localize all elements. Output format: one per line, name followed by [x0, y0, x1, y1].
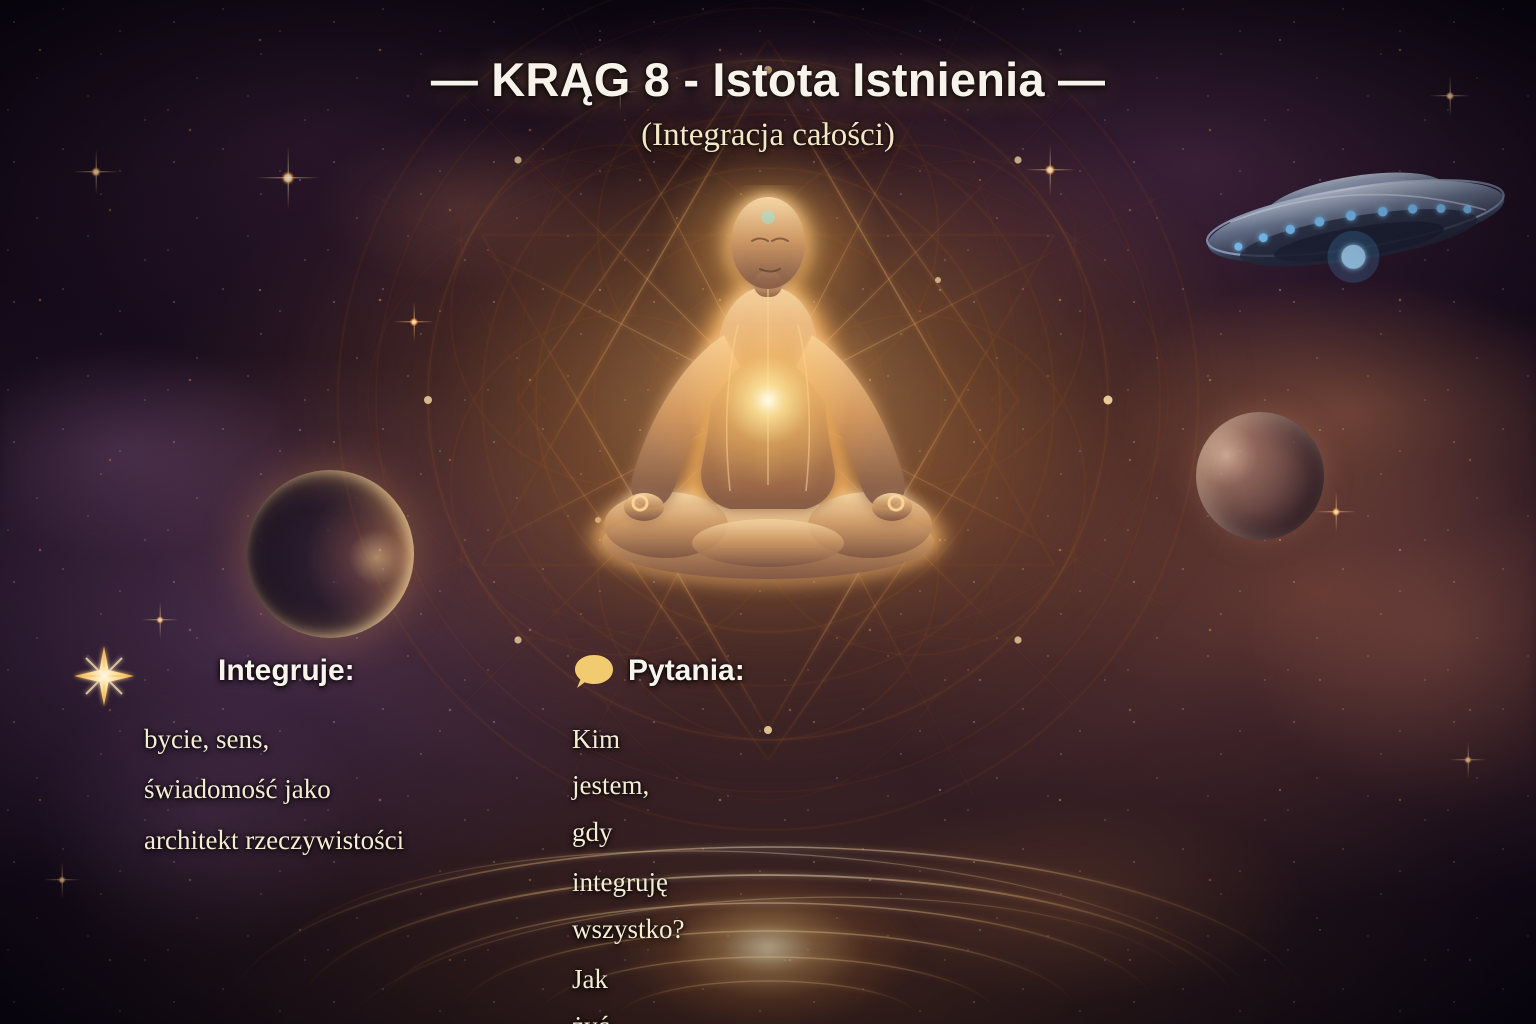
page-title: — KRĄG 8 - Istota Istnienia — — [0, 52, 1536, 107]
radiant-heart-chakra — [638, 270, 898, 530]
textured-moon — [1196, 412, 1324, 540]
page-subtitle: (Integracja całości) — [0, 117, 1536, 154]
rim-lit-planet — [246, 470, 414, 638]
crown-chakra-glow — [653, 138, 883, 338]
meditating-lotus-figure — [548, 185, 988, 635]
info-columns: Integruje: bycie, sens, świadomość jako … — [0, 648, 1536, 978]
poster-canvas: — KRĄG 8 - Istota Istnienia — (Integracj… — [0, 0, 1536, 1024]
column-pytania: Pytania: Kim jestem, gdy integruję wszys… — [26, 648, 572, 1024]
flying-saucer — [1196, 160, 1516, 300]
column-efekt: Efekt: Spójność. Mądrość. Gotowość do ws… — [546, 648, 1536, 1024]
title-block: — KRĄG 8 - Istota Istnienia — (Integracj… — [0, 52, 1536, 154]
